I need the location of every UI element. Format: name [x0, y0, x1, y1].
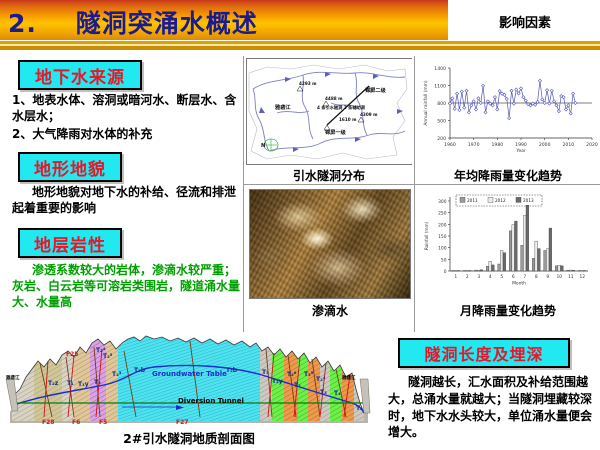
- geo-label: T₁: [67, 380, 74, 387]
- chart-tick-label: 2: [466, 274, 469, 280]
- chart-tick-label: Month: [512, 281, 526, 287]
- geo-label: T₂⁴: [316, 376, 325, 383]
- column-separator-left: [243, 56, 244, 332]
- bar: [480, 270, 483, 271]
- annual-rainfall-caption: 年均降雨量变化趋势: [418, 167, 598, 184]
- map-label: N: [261, 143, 265, 149]
- bar: [535, 241, 538, 271]
- bar: [546, 249, 549, 271]
- geo-label: T₂b: [134, 367, 145, 374]
- chart-tick-label: 11: [568, 274, 574, 280]
- geo-label: 雅砻江: [6, 375, 20, 381]
- bar: [521, 245, 524, 271]
- text-groundwater-source-2: 2、大气降雨对水体的补充: [12, 126, 238, 142]
- bar: [475, 270, 478, 271]
- text-groundwater-source-1: 1、地表水体、溶洞或暗河水、断层水、含水层水；: [12, 92, 238, 124]
- bar: [558, 265, 561, 271]
- chart-tick-label: 2013: [523, 198, 534, 203]
- geo-label: T₃: [262, 369, 269, 376]
- bar: [526, 205, 529, 271]
- geo-label: Groundwater Table: [152, 370, 227, 378]
- heading-tunnel-length-depth: 隧洞长度及埋深: [398, 338, 570, 368]
- bar: [578, 271, 581, 272]
- heading-lithology: 地层岩性: [18, 228, 122, 258]
- geo-label-group: 雅砻江雅砻江T₂zT₁T₁yT₂T₂³T₂⁴T₂⁵T₂bT₂bT₃T₂yT₂⁶T…: [4, 333, 374, 431]
- geo-label: T₂z: [48, 380, 58, 387]
- map-label: 4309 m: [360, 112, 377, 117]
- chart-tick-label: 2000: [539, 142, 551, 148]
- bar: [486, 266, 489, 271]
- seepage-photo: [250, 190, 410, 298]
- map-label: 1610 m: [339, 117, 356, 122]
- page-title: 2. 隧洞突涌水概述: [8, 4, 258, 40]
- geo-label: T₄: [334, 390, 341, 397]
- geo-label: T₃: [320, 389, 327, 396]
- chart-tick-label: 4: [489, 274, 492, 280]
- chart-tick-label: 1980: [491, 142, 503, 148]
- row-separator: [243, 184, 600, 185]
- bar: [515, 221, 518, 271]
- chart-tick-label: 2011: [467, 198, 478, 203]
- geo-label: F27: [176, 419, 188, 426]
- column-separator-right: [414, 56, 415, 332]
- geo-label: T₂⁵: [103, 353, 112, 360]
- geo-label: T₂y: [272, 378, 283, 385]
- bar: [457, 271, 460, 272]
- chart-tick-label: 2012: [495, 198, 506, 203]
- geo-label: Diversion Tunnel: [178, 397, 244, 405]
- map-label: 锦屏一级: [325, 129, 346, 136]
- monthly-rainfall-chart: 050100150200250300123456789101112MonthRa…: [420, 189, 596, 299]
- bar: [466, 271, 469, 272]
- title-label: 隧洞突涌水概述: [76, 9, 258, 38]
- chart-tick-label: 250: [438, 211, 447, 217]
- bar: [489, 261, 492, 271]
- bar: [498, 264, 501, 271]
- geo-label: T₂: [94, 379, 101, 386]
- chart-tick-label: 8: [535, 274, 538, 280]
- chart-tick-label: 500: [437, 119, 446, 125]
- geo-label: F25: [66, 351, 78, 358]
- chart-tick-label: 6: [512, 274, 515, 280]
- chart-tick-label: Rainfall (mm): [424, 221, 429, 250]
- bar: [452, 271, 455, 272]
- bar: [454, 271, 457, 272]
- bar: [561, 266, 564, 271]
- bar: [572, 270, 575, 271]
- chart-tick-label: 1400: [434, 66, 446, 72]
- bar: [463, 271, 466, 272]
- map-label: 4293 m: [299, 81, 316, 86]
- bar: [503, 253, 506, 271]
- bar: [549, 228, 552, 271]
- chart-tick-label: 50: [441, 257, 447, 263]
- heading-groundwater-source: 地下水来源: [18, 60, 142, 90]
- bar: [492, 265, 495, 271]
- chart-tick-label: 10: [556, 274, 562, 280]
- slide-root: 2. 隧洞突涌水概述 影响因素 地下水来源 1、地表水体、溶洞或暗河水、断层水、…: [0, 0, 600, 450]
- header-right-label: 影响因素: [460, 12, 590, 31]
- chart-tick-label: 800: [437, 101, 446, 107]
- heading-topography: 地形地貌: [18, 152, 122, 182]
- map-label: 4 条引水隧洞 2 条辅助洞: [317, 105, 365, 111]
- bar: [532, 258, 535, 271]
- title-rule-bottom: [0, 46, 448, 50]
- title-rule-bottom-right: [448, 46, 600, 50]
- bar: [544, 250, 547, 271]
- geo-label: T₂: [294, 382, 301, 389]
- geological-cross-section: 雅砻江雅砻江T₂zT₁T₁yT₂T₂³T₂⁴T₂⁵T₂bT₂bT₃T₂yT₂⁶T…: [4, 333, 374, 431]
- bar: [581, 271, 584, 272]
- bar: [584, 271, 587, 272]
- map-label: 雅砻江: [275, 104, 291, 111]
- chart-tick-label: 2020: [586, 142, 598, 148]
- text-tunnel-length-depth: 隧洞越长，汇水面积及补给范围越大，总涌水量就越大；当隧洞埋藏较深时，地下水水头较…: [388, 374, 598, 441]
- chart-tick-label: 3: [477, 274, 480, 280]
- chart-tick-label: 1990: [515, 142, 527, 148]
- chart-tick-label: 100: [438, 246, 447, 252]
- slide-title-bar: 2. 隧洞突涌水概述 影响因素: [0, 0, 600, 40]
- geo-label: T₂b: [226, 367, 237, 374]
- monthly-rainfall-svg: 050100150200250300123456789101112MonthRa…: [420, 189, 596, 299]
- chart-tick-label: 150: [438, 234, 447, 240]
- map-diversion-tunnel-distribution: 4293 m4488 m4309 m1610 m雅砻江锦屏二级锦屏一级4 条引水…: [247, 59, 412, 164]
- annual-rainfall-svg: 2005008001100140019601970198019902000201…: [418, 58, 598, 165]
- text-topography: 地形地貌对地下水的补给、径流和排泄起着重要的影响: [12, 184, 238, 216]
- bar: [523, 215, 526, 271]
- bar: [509, 231, 512, 271]
- geo-label: F5: [99, 419, 107, 426]
- chart-tick-label: 5: [500, 274, 503, 280]
- bar: [477, 270, 480, 271]
- chart-tick-label: 300: [438, 199, 447, 205]
- geo-label: F28: [42, 419, 54, 426]
- geo-label: F6: [72, 419, 80, 426]
- chart-tick-label: Annual rainfall (mm): [423, 80, 429, 125]
- geo-label: T₂³: [112, 371, 121, 378]
- geo-section-caption: 2#引水隧洞地质剖面图: [4, 428, 374, 447]
- chart-tick-label: 12: [579, 274, 585, 280]
- chart-tick-label: 200: [438, 222, 447, 228]
- bar: [567, 270, 570, 271]
- bar: [569, 270, 572, 271]
- chart-tick-label: 200: [437, 136, 446, 142]
- geo-label: T₂⁵: [304, 371, 313, 378]
- geo-label: T₂: [356, 405, 363, 412]
- map-label: 锦屏二级: [365, 87, 386, 94]
- map-label: 4488 m: [325, 96, 342, 101]
- title-number: 2.: [8, 9, 37, 38]
- bar: [469, 271, 472, 272]
- chart-tick-label: 7: [523, 274, 526, 280]
- chart-tick-label: 2010: [562, 142, 574, 148]
- chart-tick-label: 9: [546, 274, 549, 280]
- chart-tick-label: 1970: [468, 142, 480, 148]
- bar: [512, 225, 515, 271]
- map-caption: 引水隧洞分布: [246, 167, 412, 184]
- text-lithology: 渗透系数较大的岩体，渗滴水较严重；灰岩、白云岩等可溶岩类围岩，隧道涌水量大、水量…: [12, 262, 240, 311]
- bar: [538, 249, 541, 271]
- bar: [555, 266, 558, 271]
- bar: [500, 250, 503, 271]
- chart-tick-label: 1100: [434, 84, 446, 90]
- annual-rainfall-chart: 2005008001100140019601970198019902000201…: [418, 58, 598, 165]
- map-svg: [247, 59, 412, 164]
- chart-tick-label: 0: [444, 269, 447, 275]
- chart-tick-label: 1: [454, 274, 457, 280]
- geo-label: T₁y: [78, 381, 89, 388]
- geo-label: 雅砻江: [342, 375, 356, 381]
- chart-tick-label: Year: [515, 148, 525, 154]
- seepage-photo-caption: 渗滴水: [249, 302, 411, 319]
- monthly-rainfall-caption: 月降雨量变化趋势: [420, 302, 596, 319]
- chart-tick-label: 1960: [444, 142, 456, 148]
- geo-label: T₂⁶: [287, 371, 296, 378]
